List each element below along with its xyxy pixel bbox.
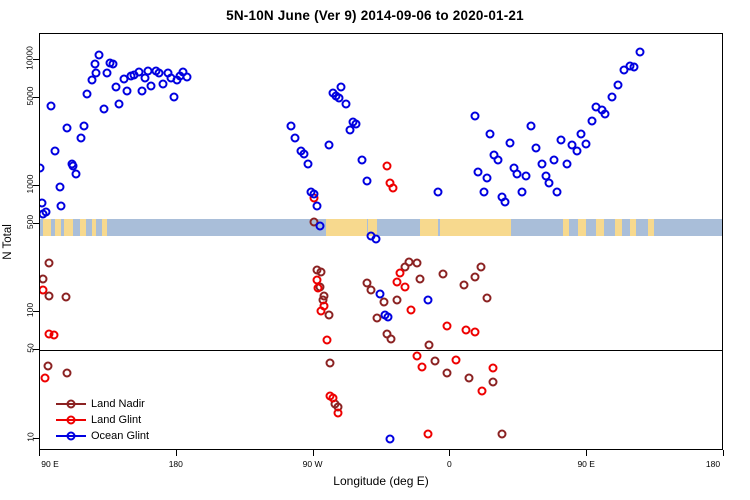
data-point — [431, 357, 440, 366]
data-point — [601, 110, 610, 119]
data-point — [416, 274, 425, 283]
x-axis-tick-label: 180 — [706, 459, 720, 469]
map-landmass — [80, 219, 86, 236]
reference-line-50 — [40, 350, 722, 351]
data-point — [412, 259, 421, 268]
data-point — [95, 50, 104, 59]
x-axis-tick — [586, 450, 587, 456]
map-landmass — [440, 219, 511, 236]
data-point — [572, 146, 581, 155]
data-point — [613, 81, 622, 90]
data-point — [341, 99, 350, 108]
data-point — [154, 68, 163, 77]
data-point — [636, 48, 645, 57]
data-point — [291, 134, 300, 143]
data-point — [470, 273, 479, 282]
x-axis-tick-label: 0 — [447, 459, 452, 469]
y-axis-tick-label: 5000 — [25, 86, 35, 105]
y-axis-tick-label: 50 — [25, 344, 35, 353]
data-point — [417, 362, 426, 371]
data-point — [501, 197, 510, 206]
data-point — [122, 86, 131, 95]
data-point — [115, 99, 124, 108]
data-point — [393, 296, 402, 305]
data-point — [557, 136, 566, 145]
x-axis: Longitude (deg E) 90 E18090 W090 E180 — [39, 450, 723, 500]
data-point — [358, 156, 367, 165]
data-point — [324, 311, 333, 320]
map-landmass — [563, 219, 569, 236]
data-point — [526, 121, 535, 130]
x-axis-tick-label: 90 W — [303, 459, 323, 469]
data-point — [470, 328, 479, 337]
x-axis-title: Longitude (deg E) — [39, 474, 723, 488]
data-point — [77, 134, 86, 143]
data-point — [45, 259, 54, 268]
data-point — [531, 144, 540, 153]
y-axis: N Total 10501005001000500010000 — [0, 33, 39, 450]
x-axis-tick — [449, 450, 450, 456]
data-point — [479, 187, 488, 196]
map-landmass — [43, 219, 51, 236]
data-point — [146, 82, 155, 91]
data-point — [371, 235, 380, 244]
x-axis-tick — [723, 450, 724, 456]
data-point — [320, 302, 329, 311]
data-point — [92, 68, 101, 77]
data-point — [517, 187, 526, 196]
data-point — [384, 313, 393, 322]
data-point — [464, 374, 473, 383]
plot-inner — [40, 34, 722, 449]
data-point — [460, 280, 469, 289]
data-point — [323, 336, 332, 345]
data-point — [485, 129, 494, 138]
y-axis-tick-label: 10000 — [25, 46, 35, 70]
data-point — [309, 189, 318, 198]
data-point — [303, 159, 312, 168]
data-point — [563, 159, 572, 168]
data-point — [473, 167, 482, 176]
data-point — [513, 169, 522, 178]
data-point — [80, 121, 89, 130]
data-point — [587, 116, 596, 125]
plot-area — [39, 33, 723, 450]
data-point — [470, 111, 479, 120]
data-point — [482, 174, 491, 183]
data-point — [61, 292, 70, 301]
data-point — [57, 201, 66, 210]
data-point — [387, 334, 396, 343]
data-point — [388, 184, 397, 193]
data-point — [159, 80, 168, 89]
data-point — [42, 208, 51, 217]
data-point — [72, 169, 81, 178]
data-point — [406, 305, 415, 314]
data-point — [478, 386, 487, 395]
legend-dot-icon — [67, 432, 76, 441]
data-point — [396, 269, 405, 278]
data-point — [108, 60, 117, 69]
legend-item[interactable]: Land Glint — [56, 412, 206, 428]
data-point — [300, 149, 309, 158]
data-point — [315, 222, 324, 231]
legend-item[interactable]: Land Nadir — [56, 396, 206, 412]
map-landmass — [615, 219, 623, 236]
y-axis-tick-label: 10 — [25, 432, 35, 441]
data-point — [99, 104, 108, 113]
data-point — [43, 361, 52, 370]
data-point — [320, 291, 329, 300]
data-point — [51, 146, 60, 155]
data-point — [581, 140, 590, 149]
legend-item[interactable]: Ocean Glint — [56, 428, 206, 444]
map-landmass — [92, 219, 97, 236]
data-point — [476, 262, 485, 271]
data-point — [333, 408, 342, 417]
data-point — [40, 274, 48, 283]
legend-label: Land Nadir — [86, 398, 145, 410]
legend-marker — [56, 429, 86, 443]
data-point — [324, 141, 333, 150]
data-point — [362, 176, 371, 185]
map-landmass — [64, 219, 73, 236]
chart-figure: 5N-10N June (Ver 9) 2014-09-06 to 2020-0… — [0, 0, 750, 500]
legend-marker — [56, 413, 86, 427]
data-point — [63, 369, 72, 378]
map-landmass — [630, 219, 636, 236]
data-point — [498, 429, 507, 438]
x-axis-tick — [176, 450, 177, 456]
data-point — [40, 163, 45, 172]
y-axis-tick-label: 100 — [25, 303, 35, 317]
x-axis-tick-label: 90 E — [41, 459, 59, 469]
data-point — [412, 352, 421, 361]
data-point — [102, 69, 111, 78]
data-point — [385, 434, 394, 443]
data-point — [630, 63, 639, 72]
data-point — [537, 159, 546, 168]
data-point — [488, 364, 497, 373]
data-point — [452, 356, 461, 365]
world-map-strip — [40, 219, 722, 236]
map-landmass — [55, 219, 61, 236]
y-axis-tick-label: 1000 — [25, 175, 35, 194]
data-point — [482, 294, 491, 303]
data-point — [329, 394, 338, 403]
data-point — [49, 331, 58, 340]
y-axis-tick-label: 500 — [25, 215, 35, 229]
data-point — [423, 429, 432, 438]
legend-marker — [56, 397, 86, 411]
data-point — [522, 172, 531, 181]
data-point — [376, 289, 385, 298]
map-landmass — [420, 219, 438, 236]
map-landmass — [648, 219, 654, 236]
data-point — [83, 89, 92, 98]
data-point — [488, 378, 497, 387]
x-axis-tick — [39, 450, 40, 456]
data-point — [317, 267, 326, 276]
data-point — [505, 138, 514, 147]
data-point — [352, 120, 361, 129]
data-point — [46, 102, 55, 111]
data-point — [443, 322, 452, 331]
legend-label: Ocean Glint — [86, 430, 149, 442]
legend-dot-icon — [67, 400, 76, 409]
data-point — [400, 282, 409, 291]
data-point — [40, 199, 46, 208]
map-landmass — [102, 219, 107, 236]
map-landmass — [326, 219, 367, 236]
data-point — [493, 156, 502, 165]
data-point — [169, 92, 178, 101]
legend-label: Land Glint — [86, 414, 141, 426]
chart-title: 5N-10N June (Ver 9) 2014-09-06 to 2020-0… — [0, 8, 750, 23]
data-point — [137, 86, 146, 95]
data-point — [40, 374, 49, 383]
data-point — [425, 341, 434, 350]
x-axis-tick — [313, 450, 314, 456]
data-point — [434, 187, 443, 196]
data-point — [607, 92, 616, 101]
data-point — [367, 286, 376, 295]
map-landmass — [596, 219, 604, 236]
x-axis-tick-label: 90 E — [577, 459, 595, 469]
data-point — [312, 201, 321, 210]
data-point — [326, 358, 335, 367]
legend-dot-icon — [67, 416, 76, 425]
data-point — [382, 161, 391, 170]
data-point — [63, 123, 72, 132]
data-point — [55, 182, 64, 191]
data-point — [577, 129, 586, 138]
legend: Land NadirLand GlintOcean Glint — [56, 396, 206, 444]
data-point — [336, 82, 345, 91]
data-point — [438, 270, 447, 279]
data-point — [443, 369, 452, 378]
data-point — [545, 179, 554, 188]
data-point — [314, 284, 323, 293]
data-point — [461, 325, 470, 334]
x-axis-tick-label: 180 — [169, 459, 183, 469]
data-point — [423, 296, 432, 305]
y-axis-title: N Total — [2, 224, 14, 260]
data-point — [183, 73, 192, 82]
data-point — [552, 187, 561, 196]
data-point — [286, 121, 295, 130]
data-point — [549, 156, 558, 165]
data-point — [112, 82, 121, 91]
map-landmass — [578, 219, 586, 236]
